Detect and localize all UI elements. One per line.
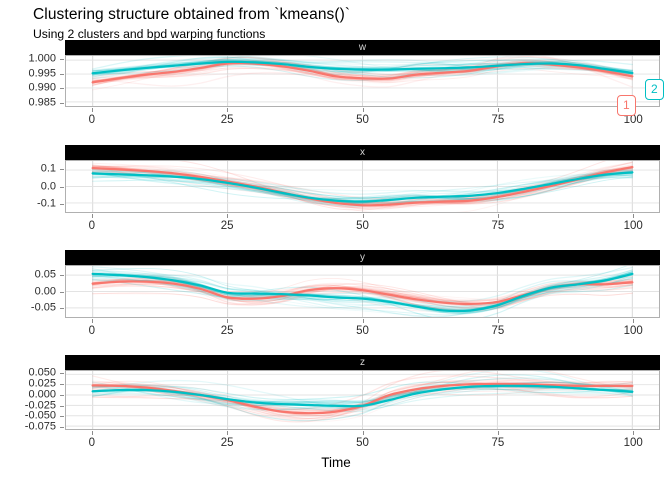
facet-strip-y: y: [65, 250, 660, 265]
x-tick-mark: [92, 214, 93, 218]
x-tick-label-z-4: 100: [624, 437, 643, 449]
x-tick-mark: [633, 214, 634, 218]
y-tick-label-z-1: -0.050: [0, 411, 56, 422]
x-tick-mark: [363, 214, 364, 218]
x-tick-label-y-3: 75: [491, 325, 504, 337]
x-tick-label-x-0: 0: [89, 220, 95, 232]
chart-subtitle: Using 2 clusters and bpd warping functio…: [33, 27, 265, 41]
x-tick-mark: [498, 431, 499, 435]
x-tick-label-z-3: 75: [491, 437, 504, 449]
y-tick-mark: [60, 59, 64, 60]
x-tick-label-x-2: 50: [356, 220, 369, 232]
y-tick-label-x-0: -0.1: [0, 198, 56, 209]
y-tick-label-w-1: 0.990: [0, 83, 56, 94]
x-tick-label-z-2: 50: [356, 437, 369, 449]
x-tick-mark: [498, 214, 499, 218]
x-tick-mark: [498, 108, 499, 112]
y-tick-label-x-2: 0.1: [0, 164, 56, 175]
x-tick-mark: [633, 319, 634, 323]
facet-strip-w: w: [65, 40, 660, 55]
y-tick-label-w-3: 1.000: [0, 54, 56, 65]
facet-strip-z: z: [65, 355, 660, 370]
chart-root: Clustering structure obtained from `kmea…: [0, 0, 672, 480]
x-tick-label-w-0: 0: [89, 114, 95, 126]
x-tick-label-w-3: 75: [491, 114, 504, 126]
y-tick-mark: [60, 187, 64, 188]
x-tick-label-x-4: 100: [624, 220, 643, 232]
y-tick-mark: [60, 308, 64, 309]
y-tick-mark: [60, 427, 64, 428]
facet-strip-label: w: [65, 40, 660, 55]
y-tick-label-z-0: -0.075: [0, 422, 56, 433]
x-tick-mark: [363, 319, 364, 323]
y-tick-label-w-2: 0.995: [0, 68, 56, 79]
x-tick-mark: [363, 431, 364, 435]
y-tick-label-z-3: 0.000: [0, 389, 56, 400]
x-tick-mark: [227, 108, 228, 112]
cluster-flag-2[interactable]: 2: [645, 79, 664, 100]
plot-area-z: [65, 370, 660, 430]
x-tick-mark: [633, 431, 634, 435]
y-tick-label-z-5: 0.050: [0, 368, 56, 379]
y-tick-mark: [60, 204, 64, 205]
x-tick-mark: [227, 214, 228, 218]
chart-title: Clustering structure obtained from `kmea…: [33, 6, 350, 24]
y-tick-label-y-2: 0.05: [0, 269, 56, 280]
x-tick-mark: [498, 319, 499, 323]
x-tick-label-w-2: 50: [356, 114, 369, 126]
y-tick-label-y-0: -0.05: [0, 303, 56, 314]
x-tick-label-z-1: 25: [221, 437, 234, 449]
y-tick-mark: [60, 74, 64, 75]
facet-strip-label: y: [65, 250, 660, 265]
x-axis-title: Time: [0, 455, 672, 470]
plot-area-w: [65, 55, 660, 107]
y-tick-mark: [60, 103, 64, 104]
x-tick-mark: [227, 431, 228, 435]
y-tick-mark: [60, 292, 64, 293]
y-tick-mark: [60, 395, 64, 396]
x-tick-label-x-3: 75: [491, 220, 504, 232]
y-tick-mark: [60, 169, 64, 170]
facet-strip-x: x: [65, 145, 660, 160]
y-tick-mark: [60, 406, 64, 407]
y-tick-label-y-1: 0.00: [0, 286, 56, 297]
y-tick-label-z-4: 0.025: [0, 379, 56, 390]
x-tick-label-y-1: 25: [221, 325, 234, 337]
x-tick-label-z-0: 0: [89, 437, 95, 449]
x-tick-label-y-4: 100: [624, 325, 643, 337]
x-tick-label-y-0: 0: [89, 325, 95, 337]
facet-strip-label: x: [65, 145, 660, 160]
x-tick-label-w-1: 25: [221, 114, 234, 126]
x-tick-label-x-1: 25: [221, 220, 234, 232]
plot-area-y: [65, 265, 660, 318]
y-tick-mark: [60, 88, 64, 89]
y-tick-mark: [60, 275, 64, 276]
y-tick-label-w-0: 0.985: [0, 97, 56, 108]
y-tick-mark: [60, 416, 64, 417]
y-tick-mark: [60, 384, 64, 385]
cluster-flag-1[interactable]: 1: [617, 95, 636, 116]
y-tick-label-z-2: -0.025: [0, 400, 56, 411]
x-tick-label-y-2: 50: [356, 325, 369, 337]
facet-strip-label: z: [65, 355, 660, 370]
plot-area-x: [65, 160, 660, 213]
x-tick-mark: [227, 319, 228, 323]
y-tick-mark: [60, 373, 64, 374]
x-tick-mark: [92, 431, 93, 435]
x-tick-mark: [92, 108, 93, 112]
x-tick-mark: [363, 108, 364, 112]
y-tick-label-x-1: 0.0: [0, 181, 56, 192]
x-tick-mark: [92, 319, 93, 323]
